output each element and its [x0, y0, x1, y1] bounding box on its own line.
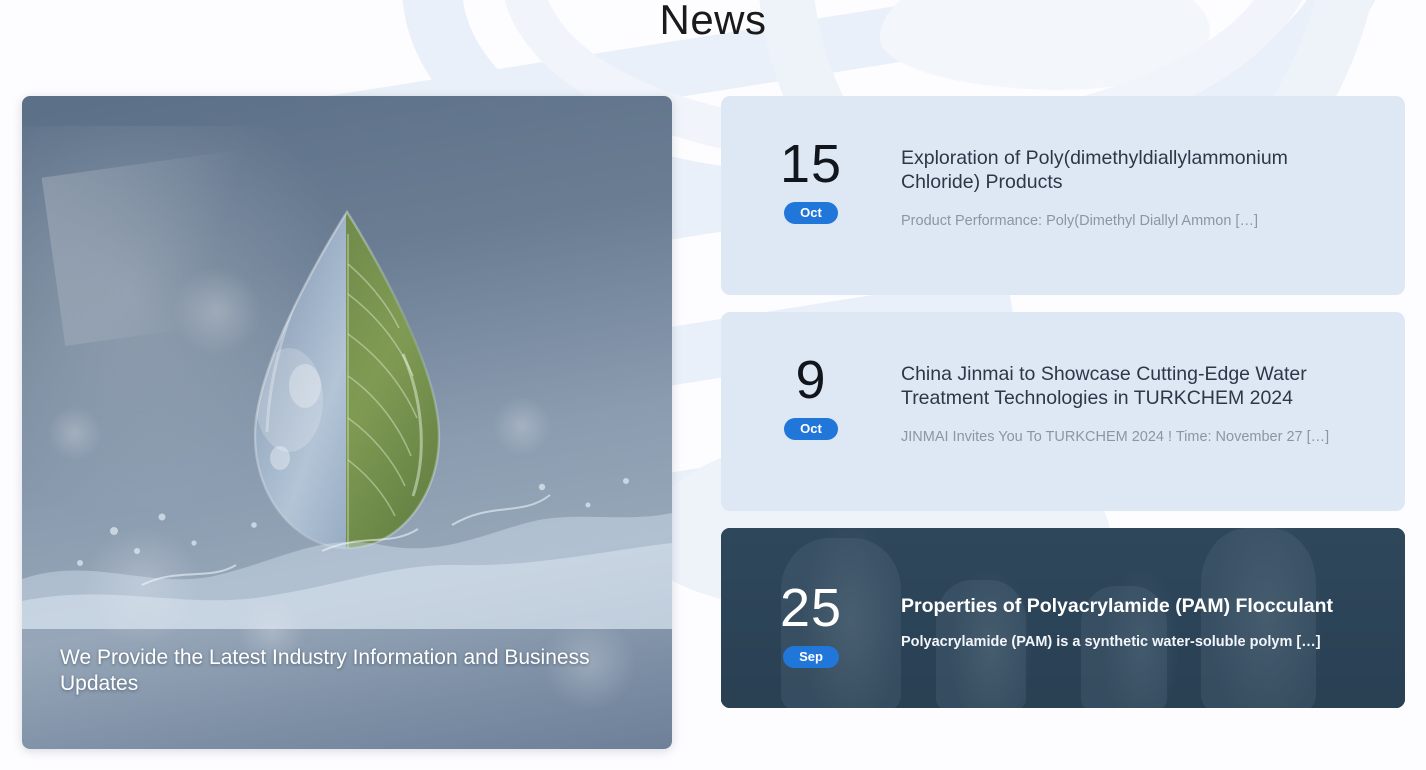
- news-card-excerpt: Product Performance: Poly(Dimethyl Diall…: [901, 211, 1333, 231]
- news-date: 15 Oct: [721, 96, 901, 224]
- page-title: News: [0, 0, 1426, 44]
- water-droplet-leaf-icon: [217, 204, 477, 564]
- news-card-body: China Jinmai to Showcase Cutting-Edge Wa…: [901, 312, 1405, 447]
- news-date-day: 9: [721, 352, 901, 408]
- news-date-month-badge: Sep: [783, 646, 839, 668]
- news-card[interactable]: 15 Oct Exploration of Poly(dimethyldiall…: [721, 96, 1405, 295]
- news-date: 9 Oct: [721, 312, 901, 440]
- hero-banner[interactable]: We Provide the Latest Industry Informati…: [22, 96, 672, 749]
- news-card-body: Properties of Polyacrylamide (PAM) Flocc…: [901, 528, 1405, 652]
- bokeh-circle: [47, 406, 102, 461]
- bokeh-circle: [82, 526, 202, 646]
- news-card-title[interactable]: China Jinmai to Showcase Cutting-Edge Wa…: [901, 362, 1333, 410]
- news-card-featured[interactable]: 25 Sep Properties of Polyacrylamide (PAM…: [721, 528, 1405, 708]
- news-card-body: Exploration of Poly(dimethyldiallylammon…: [901, 96, 1405, 231]
- news-card-excerpt: JINMAI Invites You To TURKCHEM 2024 ! Ti…: [901, 427, 1333, 447]
- news-card-title[interactable]: Exploration of Poly(dimethyldiallylammon…: [901, 146, 1333, 194]
- news-card[interactable]: 9 Oct China Jinmai to Showcase Cutting-E…: [721, 312, 1405, 511]
- news-date: 25 Sep: [721, 528, 901, 668]
- bokeh-circle: [492, 396, 552, 456]
- news-date-month-badge: Oct: [784, 418, 838, 440]
- hero-caption: We Provide the Latest Industry Informati…: [60, 645, 660, 697]
- news-card-title[interactable]: Properties of Polyacrylamide (PAM) Flocc…: [901, 594, 1345, 618]
- news-card-excerpt: Polyacrylamide (PAM) is a synthetic wate…: [901, 632, 1345, 652]
- news-date-day: 15: [721, 136, 901, 192]
- news-date-month-badge: Oct: [784, 202, 838, 224]
- news-date-day: 25: [721, 580, 901, 636]
- news-list: 15 Oct Exploration of Poly(dimethyldiall…: [721, 96, 1405, 708]
- news-page: News: [0, 0, 1426, 770]
